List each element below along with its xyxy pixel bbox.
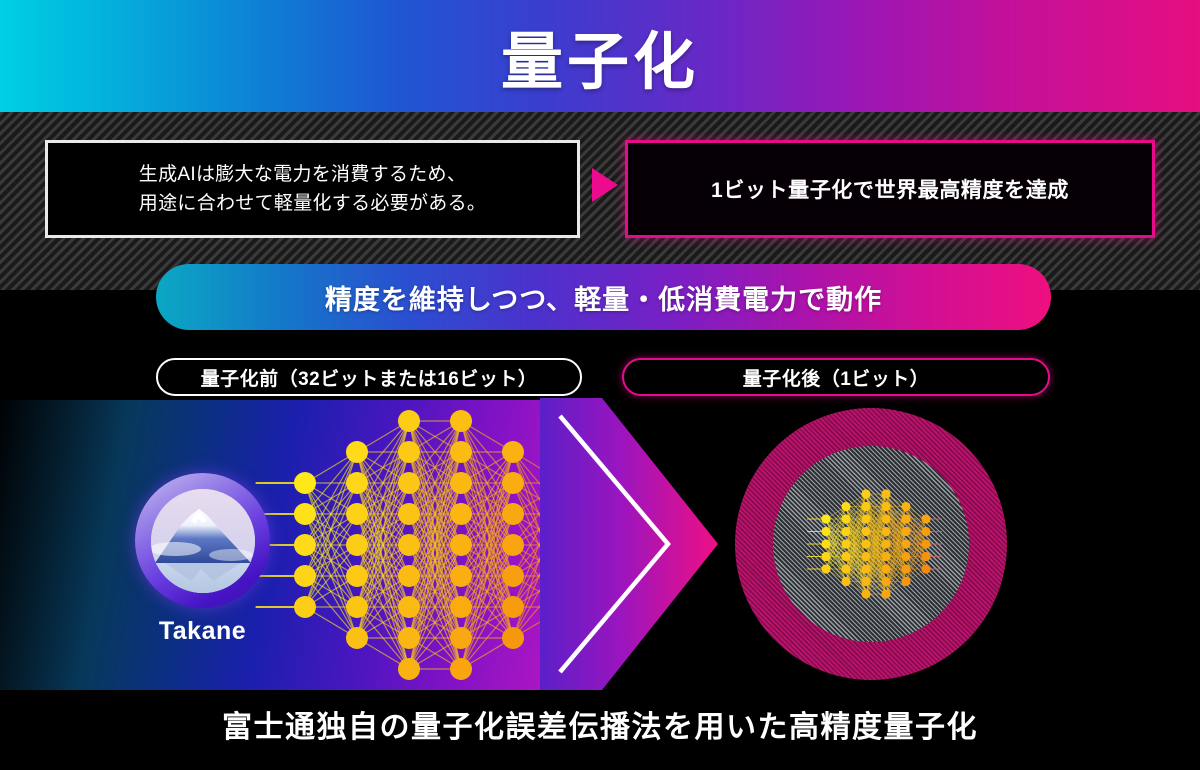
pre-quantization-panel [0,400,600,690]
post-quantization-panel [730,398,1020,690]
problem-statement-text: 生成AIは膨大な電力を消費するため、 用途に合わせて軽量化する必要がある。 [139,160,486,219]
footer-caption: 富士通独自の量子化誤差伝播法を用いた高精度量子化 [0,694,1200,754]
problem-statement-box: 生成AIは膨大な電力を消費するため、 用途に合わせて軽量化する必要がある。 [45,140,580,238]
stage-label-before-text: 量子化前（32ビットまたは16ビット） [201,364,538,391]
stage-label-after-text: 量子化後（1ビット） [743,364,930,391]
triangle-right-icon [592,168,618,202]
problem-line-1: 生成AIは膨大な電力を消費するため、 [139,160,486,189]
benefit-pill-text: 精度を維持しつつ、軽量・低消費電力で動作 [325,278,882,317]
benefit-pill: 精度を維持しつつ、軽量・低消費電力で動作 [156,264,1051,330]
result-statement-box: 1ビット量子化で世界最高精度を達成 [625,140,1155,238]
problem-line-2: 用途に合わせて軽量化する必要がある。 [139,189,486,218]
chevron-right-arrow-icon [540,398,720,690]
footer-caption-text: 富士通独自の量子化誤差伝播法を用いた高精度量子化 [222,702,978,746]
takane-badge-circle [135,473,270,608]
fuji-illustration [151,489,255,593]
mount-fuji-icon [151,489,255,593]
quantized-neural-network-diagram [730,398,1020,690]
takane-label: Takane [135,617,270,646]
stage-label-before: 量子化前（32ビットまたは16ビット） [156,358,582,396]
result-statement-text: 1ビット量子化で世界最高精度を達成 [711,174,1069,204]
page-title: 量子化 [501,11,699,101]
stage-label-after: 量子化後（1ビット） [622,358,1050,396]
header-banner: 量子化 [0,0,1200,112]
takane-model-badge: Takane [135,473,275,646]
neural-network-diagram [0,400,600,690]
